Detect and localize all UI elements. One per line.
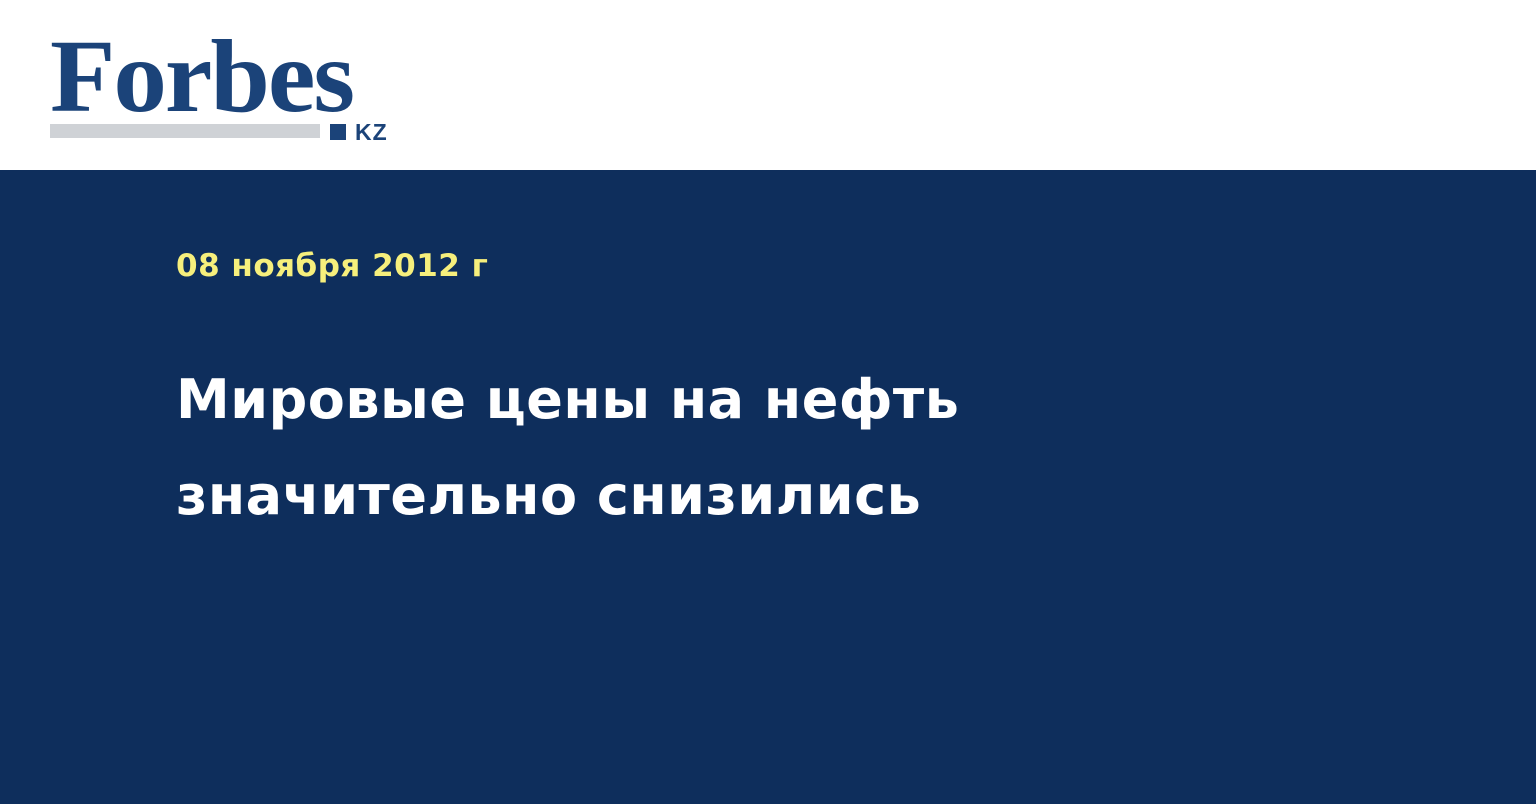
article-date: 08 ноября 2012 г	[176, 249, 488, 283]
site-header: Forbes KZ	[0, 0, 1536, 170]
article-banner-page: Forbes KZ 08 ноября 2012 г Мировые цены …	[0, 0, 1536, 804]
forbes-wordmark: Forbes	[50, 27, 421, 127]
article-hero: 08 ноября 2012 г Мировые цены на нефть з…	[0, 170, 1536, 804]
logo-square-icon	[330, 124, 346, 140]
article-title: Мировые цены на нефть значительно снизил…	[176, 352, 1056, 544]
logo-underbar	[50, 124, 320, 138]
logo-kz-label: KZ	[355, 122, 388, 142]
forbes-kz-logo[interactable]: Forbes KZ	[50, 27, 410, 143]
